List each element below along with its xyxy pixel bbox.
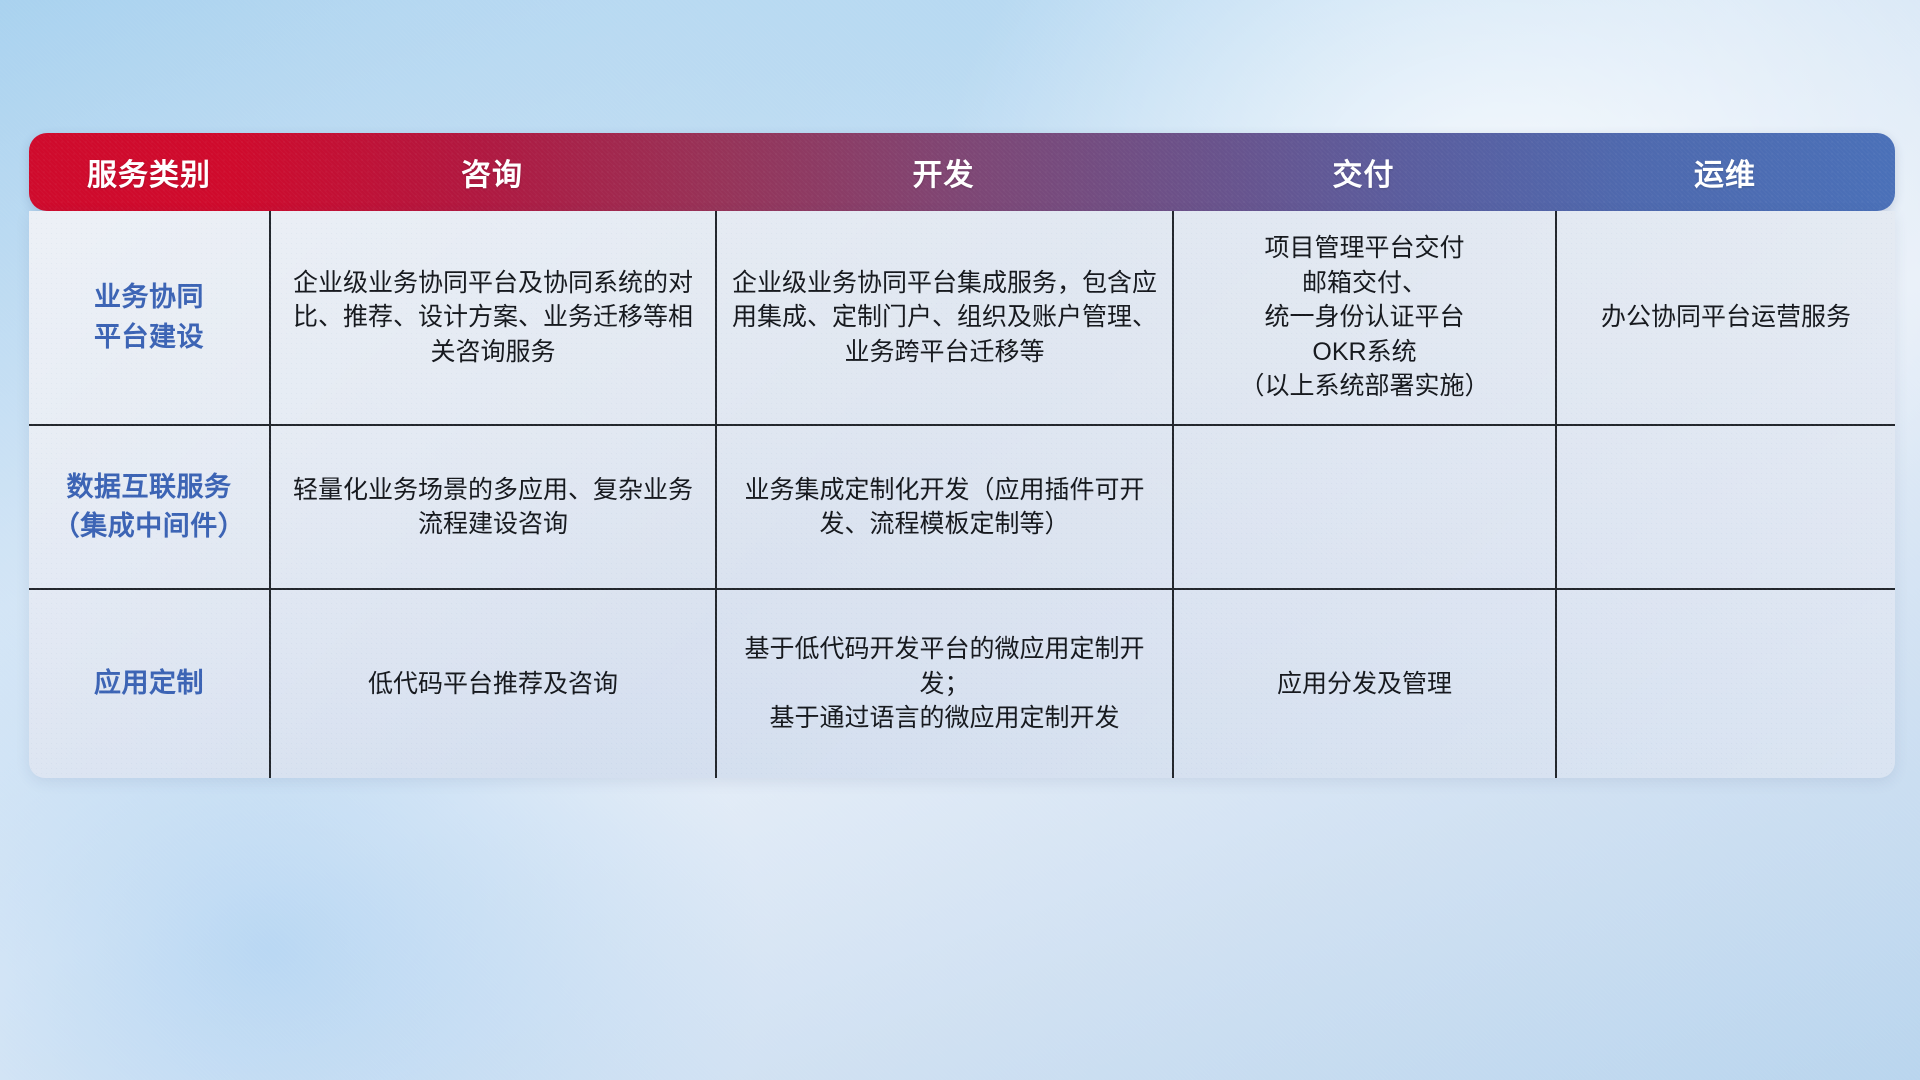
cell-text-line: （以上系统部署实施） [1239,369,1489,404]
cell-category: 应用定制 [29,590,269,778]
table-row: 数据互联服务 （集成中间件） 轻量化业务场景的多应用、复杂业务流程建设咨询 业务… [29,424,1895,588]
category-line: 平台建设 [94,318,204,357]
cell-text: 业务集成定制化开发（应用插件可开发、流程模板定制等） [731,473,1158,542]
cell-text-line: 基于通过语言的微应用定制开发 [731,701,1158,736]
column-header-operations: 运维 [1555,150,1895,194]
category-label: 业务协同 平台建设 [94,278,204,356]
table-body: 业务协同 平台建设 企业级业务协同平台及协同系统的对比、推荐、设计方案、业务迁移… [29,211,1895,778]
cell-development: 企业级业务协同平台集成服务，包含应用集成、定制门户、组织及账户管理、业务跨平台迁… [715,211,1172,424]
column-header-consulting: 咨询 [269,150,715,194]
category-line: 业务协同 [94,278,204,317]
category-line: 应用定制 [94,664,204,703]
cell-consulting: 企业级业务协同平台及协同系统的对比、推荐、设计方案、业务迁移等相关咨询服务 [269,211,715,424]
category-line: （集成中间件） [53,507,246,546]
cell-development: 基于低代码开发平台的微应用定制开发； 基于通过语言的微应用定制开发 [715,590,1172,778]
cell-text: 企业级业务协同平台及协同系统的对比、推荐、设计方案、业务迁移等相关咨询服务 [285,266,701,370]
category-label: 数据互联服务 （集成中间件） [53,468,246,546]
column-header-development: 开发 [715,150,1172,194]
cell-text-line: 项目管理平台交付 [1239,231,1489,266]
cell-category: 业务协同 平台建设 [29,211,269,424]
cell-text: 办公协同平台运营服务 [1601,300,1851,335]
cell-text: 基于低代码开发平台的微应用定制开发； 基于通过语言的微应用定制开发 [731,632,1158,736]
cell-development: 业务集成定制化开发（应用插件可开发、流程模板定制等） [715,426,1172,588]
cell-consulting: 轻量化业务场景的多应用、复杂业务流程建设咨询 [269,426,715,588]
cell-consulting: 低代码平台推荐及咨询 [269,590,715,778]
cell-text: 应用分发及管理 [1277,667,1452,702]
cell-operations: 办公协同平台运营服务 [1555,211,1895,424]
cell-operations [1555,590,1895,778]
cell-text: 项目管理平台交付 邮箱交付、 统一身份认证平台 OKR系统 （以上系统部署实施） [1239,231,1489,404]
category-line: 数据互联服务 [53,468,246,507]
category-label: 应用定制 [94,664,204,703]
cell-text-line: 基于低代码开发平台的微应用定制开发； [731,632,1158,701]
column-header-delivery: 交付 [1172,150,1555,194]
cell-category: 数据互联服务 （集成中间件） [29,426,269,588]
cell-delivery: 项目管理平台交付 邮箱交付、 统一身份认证平台 OKR系统 （以上系统部署实施） [1172,211,1555,424]
cell-delivery [1172,426,1555,588]
service-matrix-table: 服务类别 咨询 开发 交付 运维 业务协同 平台建设 企业级业务协同平台及协同系… [29,133,1895,778]
table-header-row: 服务类别 咨询 开发 交付 运维 [29,133,1895,211]
cell-text-line: 邮箱交付、 [1239,266,1489,301]
cell-operations [1555,426,1895,588]
cell-text-line: 统一身份认证平台 [1239,300,1489,335]
cell-delivery: 应用分发及管理 [1172,590,1555,778]
column-header-category: 服务类别 [29,150,269,194]
cell-text: 企业级业务协同平台集成服务，包含应用集成、定制门户、组织及账户管理、业务跨平台迁… [731,266,1158,370]
cell-text: 轻量化业务场景的多应用、复杂业务流程建设咨询 [285,473,701,542]
table-row: 业务协同 平台建设 企业级业务协同平台及协同系统的对比、推荐、设计方案、业务迁移… [29,211,1895,424]
table-row: 应用定制 低代码平台推荐及咨询 基于低代码开发平台的微应用定制开发； 基于通过语… [29,588,1895,778]
cell-text-line: OKR系统 [1239,335,1489,370]
cell-text: 低代码平台推荐及咨询 [368,667,618,702]
